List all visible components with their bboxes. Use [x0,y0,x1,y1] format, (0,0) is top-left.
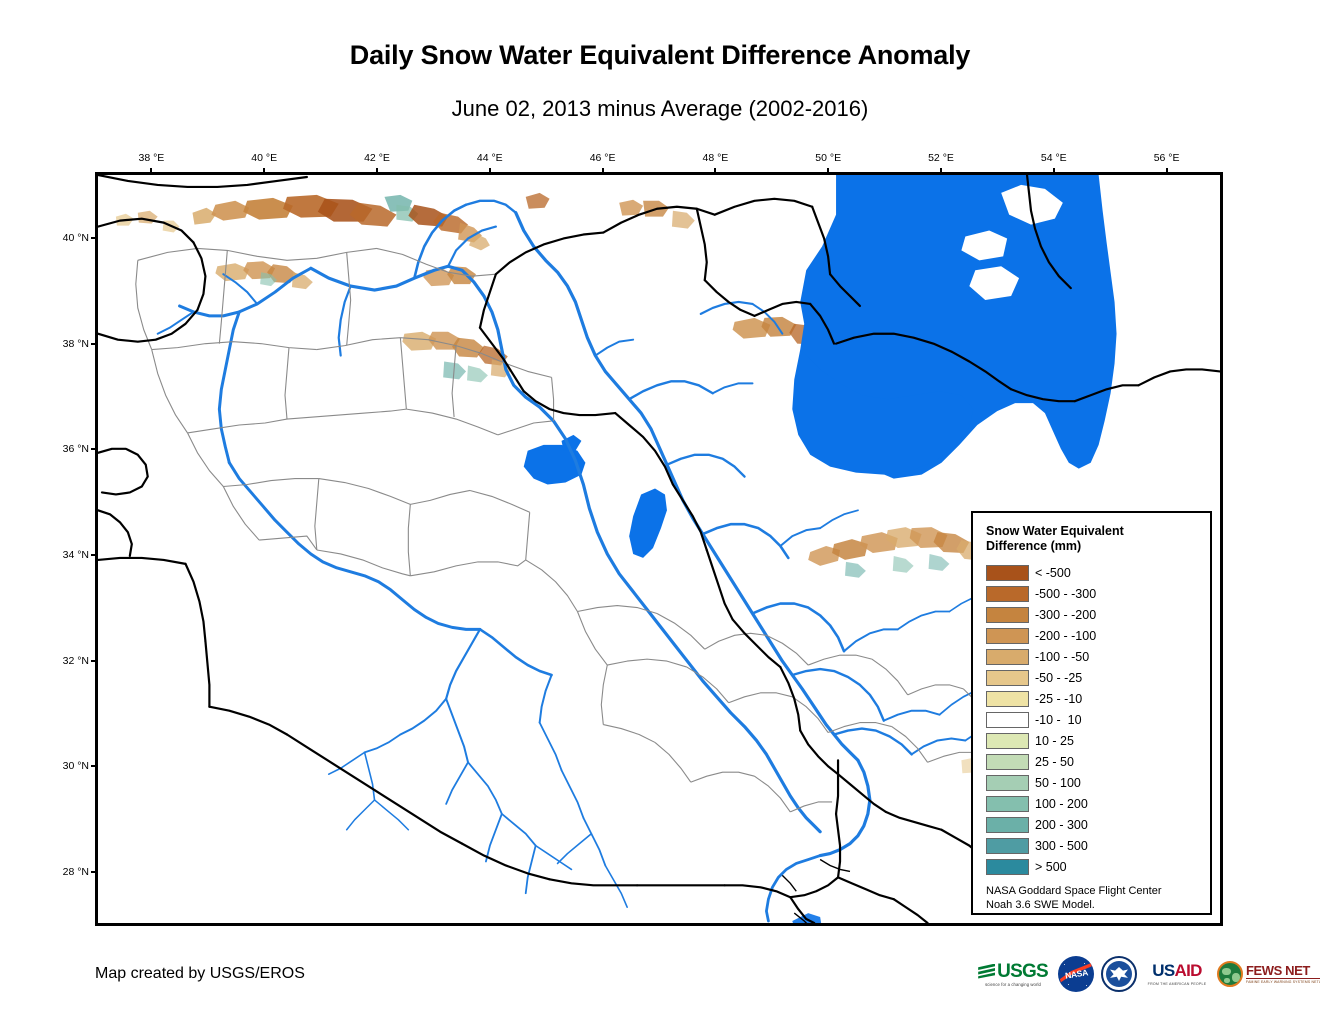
legend-label: -50 - -25 [1035,671,1082,685]
usaid-prefix: US [1152,961,1174,980]
legend-item: -300 - -200 [986,604,1210,625]
longitude-tick-label: 56 °E [1154,152,1180,164]
legend-swatch [986,628,1029,644]
star-icon [1084,963,1085,964]
lake-urmia [629,488,667,557]
legend-swatch [986,712,1029,728]
legend-item: -50 - -25 [986,667,1210,688]
page-subtitle: June 02, 2013 minus Average (2002-2016) [0,96,1320,122]
legend-label: -300 - -200 [1035,608,1096,622]
page-title: Daily Snow Water Equivalent Difference A… [0,40,1320,71]
longitude-tick-label: 50 °E [815,152,841,164]
map-page: Daily Snow Water Equivalent Difference A… [0,0,1320,1020]
legend-item: -500 - -300 [986,583,1210,604]
latitude-tick-label: 40 °N [43,232,89,244]
legend-swatch [986,565,1029,581]
legend-swatch [986,649,1029,665]
legend-item: -10 - 10 [986,709,1210,730]
landmass-shape [1232,973,1240,982]
usaid-logo: USAID FROM THE AMERICAN PEOPLE [1144,954,1210,994]
nasa-wordmark: NASA [1064,967,1088,980]
seabird-icon [1110,967,1128,981]
landmass-shape [1224,978,1230,983]
longitude-tick-label: 54 °E [1041,152,1067,164]
agency-logos: USGS science for a changing world NASA U… [975,952,1225,996]
star-icon [1086,985,1087,986]
legend-swatch [986,733,1029,749]
legend-footnote: NASA Goddard Space Flight Center Noah 3.… [986,885,1210,912]
globe-icon [1217,961,1243,987]
legend-label: -200 - -100 [1035,629,1096,643]
legend-rows: < -500-500 - -300-300 - -200-200 - -100-… [986,562,1210,877]
legend-item: 300 - 500 [986,835,1210,856]
legend-label: 100 - 200 [1035,797,1088,811]
latitude-tick-label: 38 °N [43,338,89,350]
usgs-logo: USGS science for a changing world [975,954,1051,994]
legend-label: -10 - 10 [1035,713,1082,727]
legend-item: -25 - -10 [986,688,1210,709]
legend-swatch [986,796,1029,812]
latitude-tick-label: 34 °N [43,549,89,561]
legend-swatch [986,754,1029,770]
longitude-tick-label: 52 °E [928,152,954,164]
longitude-tick-label: 42 °E [364,152,390,164]
legend-label: > 500 [1035,860,1067,874]
legend-label: -25 - -10 [1035,692,1082,706]
legend-item: -100 - -50 [986,646,1210,667]
legend-label: 300 - 500 [1035,839,1088,853]
legend-label: 200 - 300 [1035,818,1088,832]
legend-item: < -500 [986,562,1210,583]
usgs-wave-icon [978,964,995,979]
longitude-tick-label: 46 °E [590,152,616,164]
legend-swatch [986,775,1029,791]
star-icon [1064,964,1065,965]
legend-item: -200 - -100 [986,625,1210,646]
longitude-tick-label: 40 °E [251,152,277,164]
legend-title: Snow Water Equivalent Difference (mm) [986,524,1210,554]
divider [1246,978,1320,980]
usgs-tagline: science for a changing world [985,982,1041,987]
usaid-tagline: FROM THE AMERICAN PEOPLE [1148,982,1207,986]
legend-label: < -500 [1035,566,1071,580]
usaid-wordmark: USAID [1152,962,1201,980]
legend-label: 25 - 50 [1035,755,1074,769]
legend-item: 100 - 200 [986,793,1210,814]
noaa-logo [1101,956,1137,992]
legend-item: 25 - 50 [986,751,1210,772]
legend-swatch [986,817,1029,833]
star-icon [1068,984,1069,985]
legend-swatch [986,670,1029,686]
fews-wordmark-group: FEWS NET FAMINE EARLY WARNING SYSTEMS NE… [1246,964,1320,985]
longitude-tick-label: 48 °E [702,152,728,164]
fews-wordmark: FEWS NET [1246,964,1320,978]
noaa-disc [1106,961,1132,987]
legend-label: 50 - 100 [1035,776,1081,790]
usaid-suffix: AID [1175,961,1202,980]
fews-net-logo: FEWS NET FAMINE EARLY WARNING SYSTEMS NE… [1217,954,1305,994]
legend-item: 50 - 100 [986,772,1210,793]
legend-label: -100 - -50 [1035,650,1089,664]
longitude-tick-label: 44 °E [477,152,503,164]
nasa-logo: NASA [1058,956,1094,992]
legend-item: 10 - 25 [986,730,1210,751]
legend-label: 10 - 25 [1035,734,1074,748]
latitude-tick-label: 36 °N [43,443,89,455]
legend-swatch [986,859,1029,875]
legend-label: -500 - -300 [1035,587,1096,601]
longitude-tick-label: 38 °E [138,152,164,164]
latitude-tick-label: 28 °N [43,866,89,878]
usgs-mark: USGS [978,962,1048,981]
latitude-tick-label: 30 °N [43,760,89,772]
legend-swatch [986,586,1029,602]
landmass-shape [1222,968,1231,975]
legend-swatch [986,691,1029,707]
latitude-tick-label: 32 °N [43,655,89,667]
legend-swatch [986,838,1029,854]
legend-item: 200 - 300 [986,814,1210,835]
usgs-wordmark: USGS [997,962,1048,981]
fews-tagline: FAMINE EARLY WARNING SYSTEMS NETWORK [1246,980,1320,984]
legend-swatch [986,607,1029,623]
map-legend: Snow Water Equivalent Difference (mm) < … [971,511,1212,915]
map-credit: Map created by USGS/EROS [95,965,305,983]
legend-item: > 500 [986,856,1210,877]
